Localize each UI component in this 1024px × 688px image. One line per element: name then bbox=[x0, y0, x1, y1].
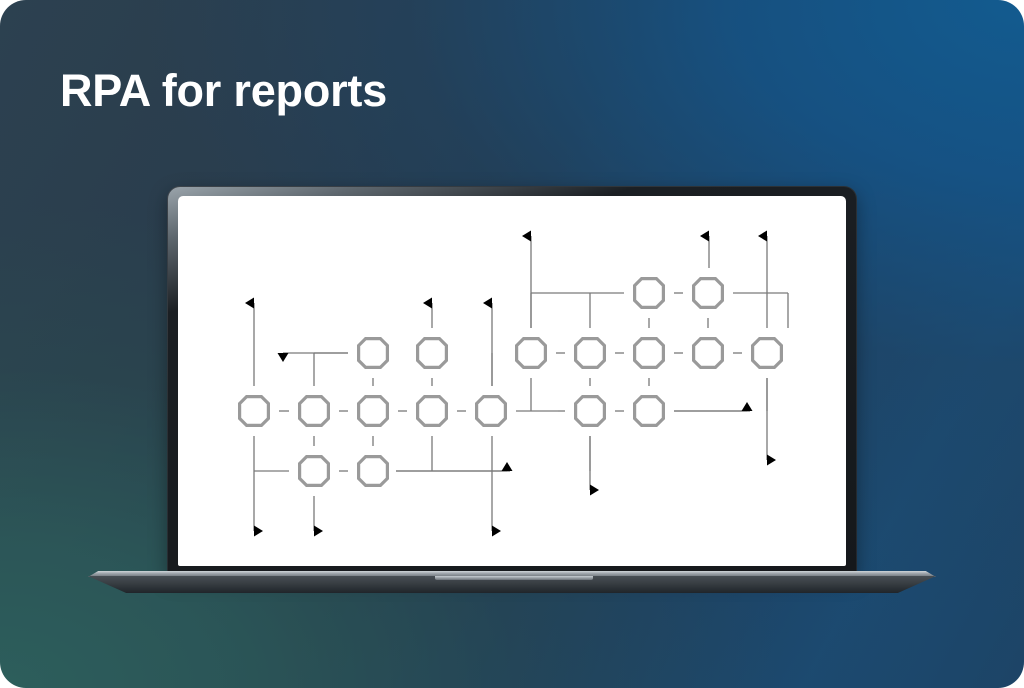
node-octagon bbox=[576, 397, 605, 426]
diagram-edges bbox=[254, 293, 788, 471]
node-octagon bbox=[359, 339, 388, 368]
node-octagon bbox=[418, 397, 447, 426]
node-octagon bbox=[477, 397, 506, 426]
laptop-screen bbox=[178, 196, 846, 566]
node-octagon bbox=[694, 279, 723, 308]
diagram-nodes bbox=[240, 279, 782, 486]
laptop-lid bbox=[167, 186, 857, 576]
node-octagon bbox=[359, 457, 388, 486]
node-octagon bbox=[300, 457, 329, 486]
node-octagon bbox=[694, 339, 723, 368]
process-diagram bbox=[178, 196, 846, 566]
node-octagon bbox=[359, 397, 388, 426]
node-octagon bbox=[517, 339, 546, 368]
node-octagon bbox=[576, 339, 605, 368]
laptop-trackpad-notch bbox=[435, 576, 593, 580]
slide-canvas: RPA for reports bbox=[0, 0, 1024, 688]
node-octagon bbox=[753, 339, 782, 368]
node-octagon bbox=[418, 339, 447, 368]
node-octagon bbox=[635, 279, 664, 308]
node-octagon bbox=[240, 397, 269, 426]
diagram-arrows bbox=[254, 236, 767, 531]
laptop-mockup bbox=[88, 186, 936, 600]
laptop-base bbox=[88, 571, 936, 595]
node-octagon bbox=[300, 397, 329, 426]
node-octagon bbox=[635, 397, 664, 426]
node-octagon bbox=[635, 339, 664, 368]
page-title: RPA for reports bbox=[60, 65, 387, 117]
